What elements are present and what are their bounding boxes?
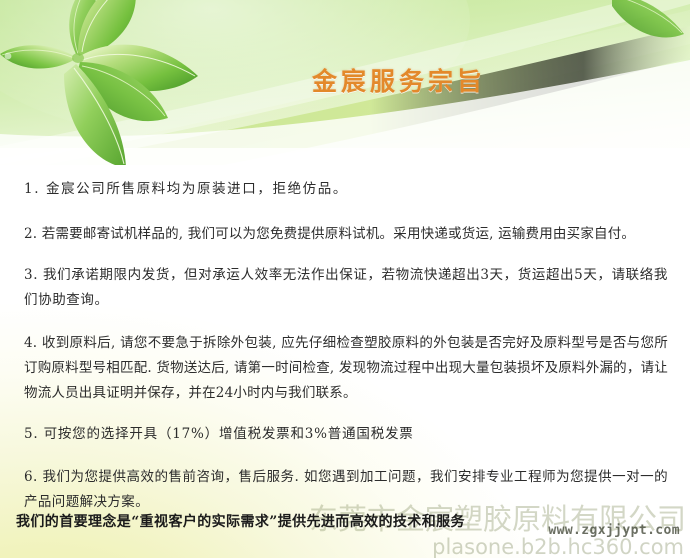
header-banner: 金宸服务宗旨 (0, 0, 690, 165)
term-item: 1. 金宸公司所售原料均为原装进口，拒绝仿品。 (24, 177, 668, 202)
watermark-url-secondary: plasone.b2b.hc360.com (432, 535, 684, 558)
watermark-url-primary: www.zgxjjypt.com (548, 523, 680, 538)
service-policy-page: 金宸服务宗旨 1. 金宸公司所售原料均为原装进口，拒绝仿品。 2. 若需要邮寄试… (0, 0, 690, 558)
term-item: 2. 若需要邮寄试机样品的, 我们可以为您免费提供原料试机。采用快递或货运, 运… (24, 222, 668, 247)
term-item: 3. 我们承诺期限内发货，但对承运人效率无法作出保证，若物流快递超出3天，货运超… (24, 263, 668, 313)
closing-statement: 我们的首要理念是“重视客户的实际需求”提供先进而高效的技术和服务 (16, 512, 556, 532)
term-item: 5. 可按您的选择开具（17%）增值税发票和3%普通国税发票 (24, 422, 668, 447)
page-title: 金宸服务宗旨 (0, 62, 690, 98)
term-item: 4. 收到原料后, 请您不要急于拆除外包装, 应先仔细检查塑胶原料的外包装是否完… (24, 331, 668, 406)
terms-list: 1. 金宸公司所售原料均为原装进口，拒绝仿品。 2. 若需要邮寄试机样品的, 我… (0, 165, 690, 529)
